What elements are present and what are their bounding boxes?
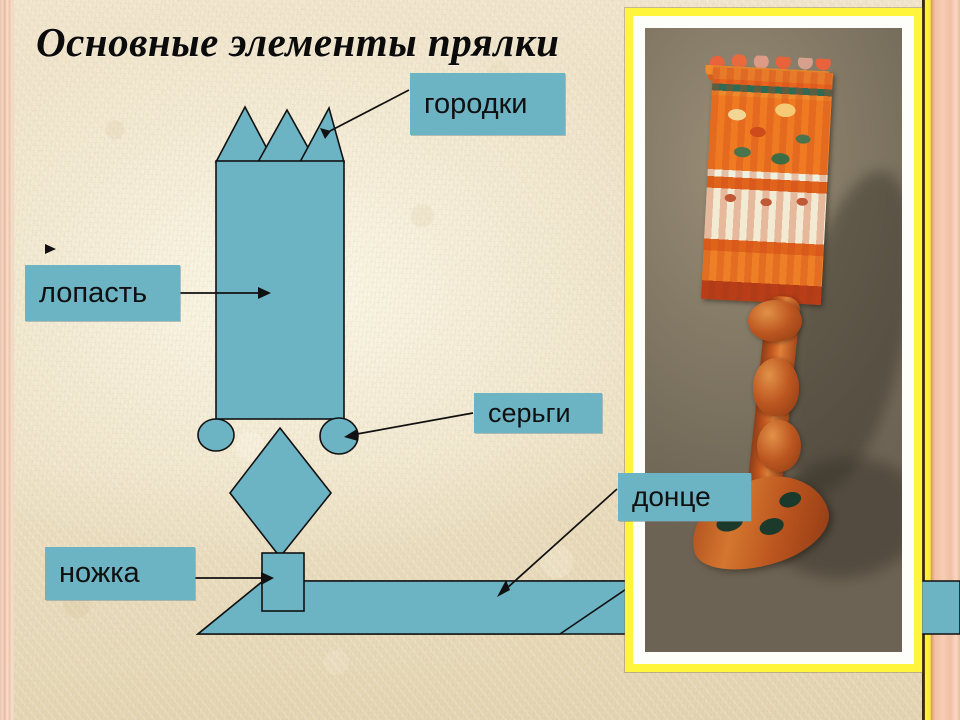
photo-of-spinning-wheel <box>645 28 902 652</box>
photo-white-mat <box>633 16 914 664</box>
leader-line-sergi <box>344 413 473 441</box>
diagram-part-lopast <box>216 161 344 419</box>
photo-lopast-blade <box>701 67 833 305</box>
callout-label-lopast[interactable]: лопасть <box>25 265 180 321</box>
callout-label-gorodki[interactable]: городки <box>410 73 565 135</box>
photo-frame <box>625 8 922 672</box>
photo-stem-knob-upper <box>748 300 802 342</box>
callout-label-dontse[interactable]: донце <box>618 473 751 521</box>
photo-blade-ornament <box>701 67 833 305</box>
callout-label-sergi[interactable]: серьги <box>474 393 602 433</box>
leader-line-nozhka <box>195 572 274 585</box>
photo-stem-knob-middle <box>753 358 799 416</box>
callout-label-nozhka[interactable]: ножка <box>45 547 195 600</box>
diagram-part-nozhka <box>262 553 304 611</box>
bullet-pointer-icon <box>45 244 56 254</box>
slide-canvas: Основные элементы прялки <box>0 0 960 720</box>
diagram-part-diamond <box>230 428 331 557</box>
photo-stem-knob-lower <box>757 420 801 472</box>
